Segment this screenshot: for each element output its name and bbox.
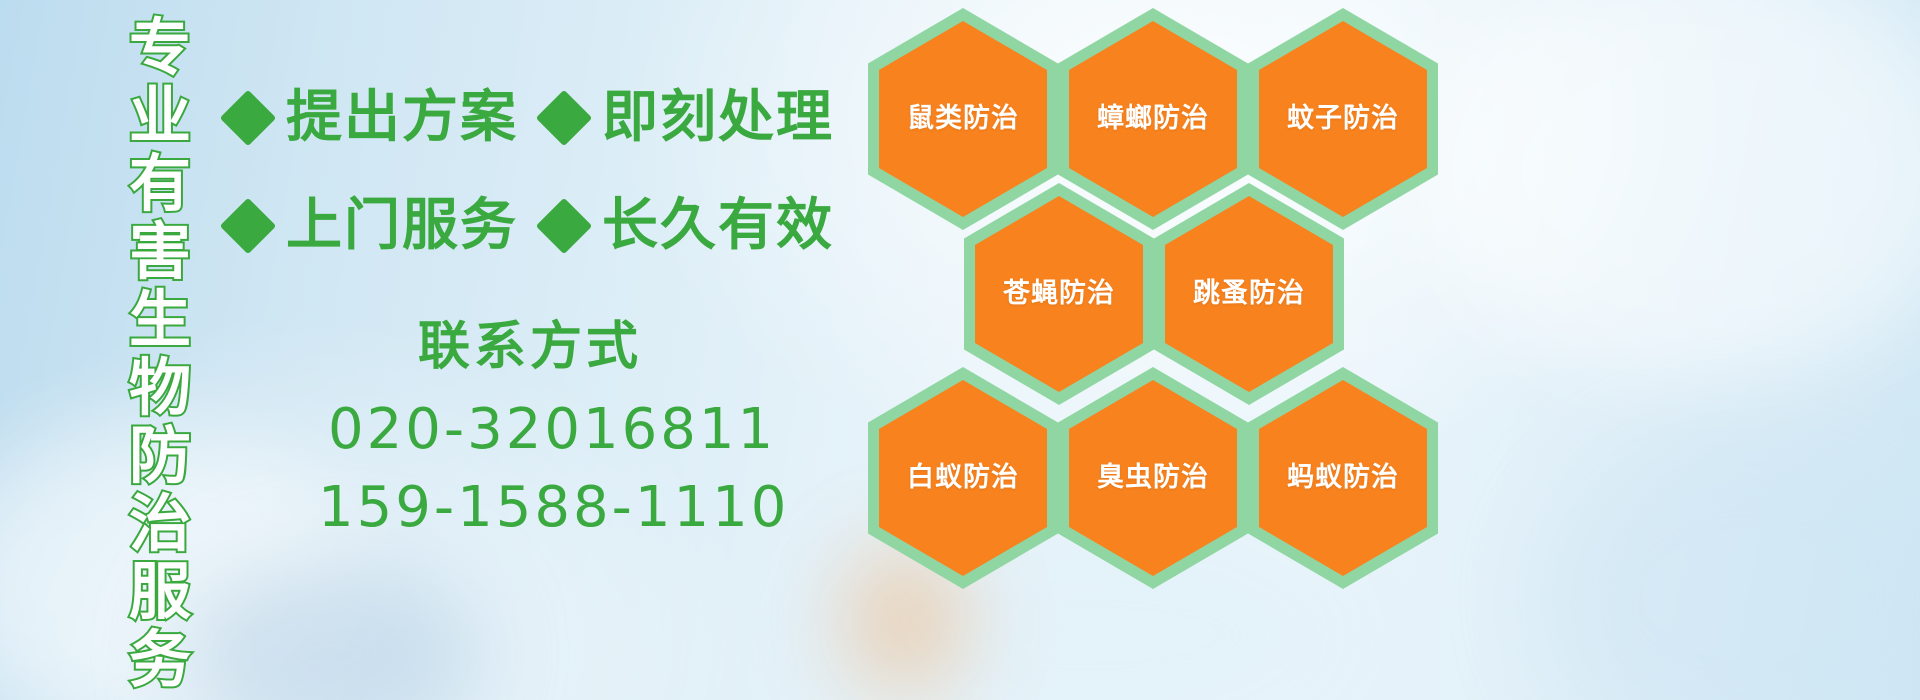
hex-label: 蚊子防治: [1287, 104, 1399, 134]
vertical-title: 专 业 有 害 生 物 防 治 服 务: [108, 14, 212, 694]
hex-service-termite[interactable]: 白蚁防治: [868, 367, 1058, 589]
hex-label: 鼠类防治: [907, 104, 1019, 134]
vertical-title-char: 防: [129, 422, 191, 490]
feature-item-onsite-service: 上门服务: [228, 196, 518, 256]
feature-row-1: 提出方案 即刻处理: [228, 88, 834, 148]
feature-label: 长久有效: [602, 196, 834, 256]
hex-label: 蚂蚁防治: [1287, 463, 1399, 493]
feature-label: 上门服务: [286, 196, 518, 256]
diamond-icon: [536, 90, 593, 147]
hex-service-bedbug[interactable]: 臭虫防治: [1058, 367, 1248, 589]
feature-item-immediate-handling: 即刻处理: [544, 88, 834, 148]
hex-label: 白蚁防治: [907, 463, 1019, 493]
feature-item-propose-plan: 提出方案: [228, 88, 518, 148]
vertical-title-char: 生: [129, 286, 191, 354]
feature-item-long-lasting: 长久有效: [544, 196, 834, 256]
phone-mobile[interactable]: 159-1588-1110: [318, 478, 789, 538]
banner-canvas: 专 业 有 害 生 物 防 治 服 务 提出方案 即刻处理 上门服务: [0, 0, 1920, 700]
vertical-title-char: 业: [129, 82, 191, 150]
contact-heading: 联系方式: [418, 318, 642, 376]
phone-landline[interactable]: 020-32016811: [328, 400, 776, 460]
feature-label: 即刻处理: [602, 88, 834, 148]
hex-label: 跳蚤防治: [1193, 279, 1305, 309]
hex-label: 臭虫防治: [1097, 463, 1209, 493]
diamond-icon: [220, 90, 277, 147]
background-blob: [1540, 430, 1920, 700]
hex-label: 蟑螂防治: [1097, 104, 1209, 134]
vertical-title-char: 物: [129, 354, 191, 422]
hex-label: 苍蝇防治: [1003, 279, 1115, 309]
feature-label: 提出方案: [286, 88, 518, 148]
vertical-title-char: 务: [129, 626, 191, 694]
center-content: 提出方案 即刻处理 上门服务 长久有效 联系方式 020-32016811 15…: [228, 0, 868, 700]
vertical-title-char: 专: [129, 14, 191, 82]
vertical-title-char: 害: [129, 218, 191, 286]
diamond-icon: [220, 198, 277, 255]
vertical-title-char: 治: [129, 490, 191, 558]
vertical-title-char: 有: [129, 150, 191, 218]
diamond-icon: [536, 198, 593, 255]
feature-row-2: 上门服务 长久有效: [228, 196, 834, 256]
hex-service-ant[interactable]: 蚂蚁防治: [1248, 367, 1438, 589]
background-blob: [1420, 0, 1920, 380]
service-honeycomb: 鼠类防治 蟑螂防治 蚊子防治 苍蝇防治 跳蚤防治 白蚁防治: [860, 0, 1460, 580]
vertical-title-char: 服: [129, 558, 191, 626]
